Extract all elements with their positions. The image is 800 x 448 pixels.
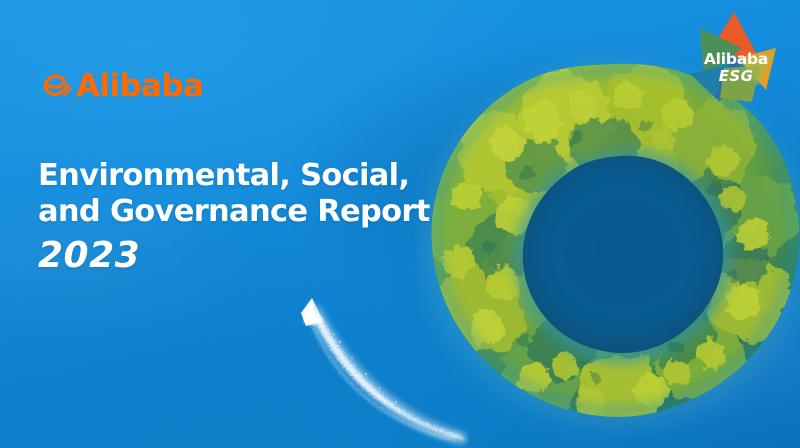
alibaba-logo[interactable]: Alibaba [38, 64, 198, 104]
alibaba-e-swirl-icon [45, 76, 71, 94]
esg-badge-subtitle: ESG [719, 67, 754, 85]
title-year: 2023 [38, 232, 458, 280]
title-line-2: and Governance Report [38, 194, 458, 230]
cover-title-block: Environmental, Social, and Governance Re… [38, 158, 458, 280]
alibaba-wordmark: Alibaba [76, 68, 203, 104]
title-line-1: Environmental, Social, [38, 158, 458, 194]
alibaba-esg-badge[interactable]: Alibaba ESG [680, 2, 792, 112]
boat-wake-diffuse [315, 312, 460, 438]
speedboat [270, 280, 470, 448]
esg-badge-name: Alibaba [704, 50, 768, 68]
report-cover: Alibaba Alibaba ESG [0, 0, 800, 448]
boat-spray [333, 333, 457, 438]
